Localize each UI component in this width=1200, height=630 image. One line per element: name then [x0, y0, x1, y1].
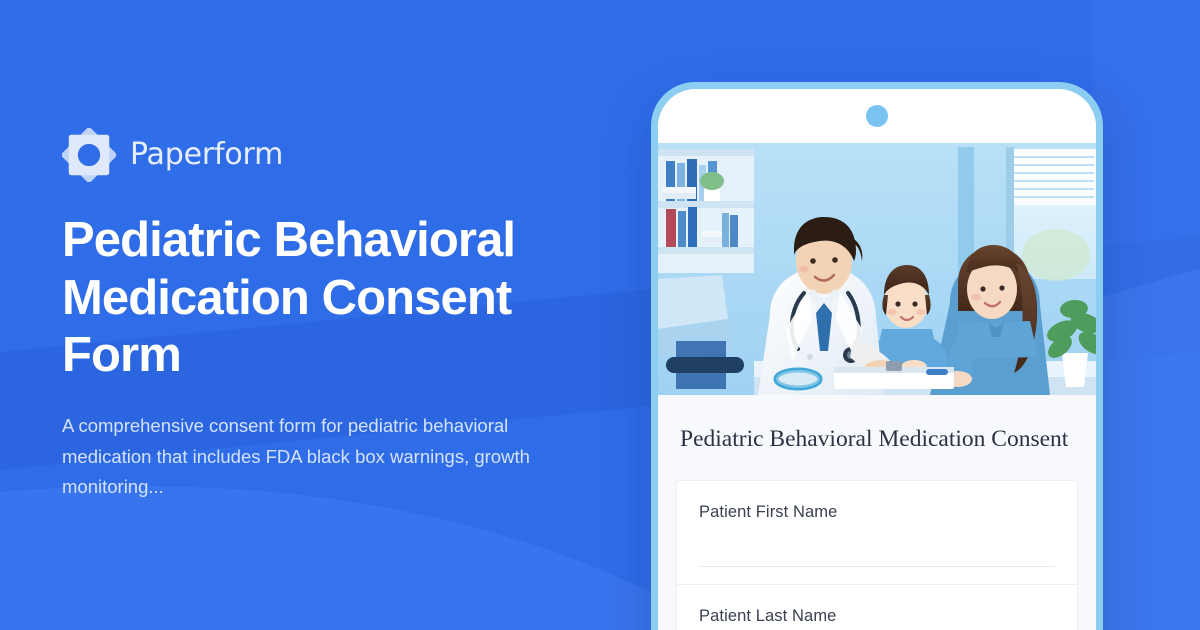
form-field-list: Patient First Name Patient Last Name: [658, 480, 1096, 630]
phone-screen: Pediatric Behavioral Medication Consent …: [658, 89, 1096, 630]
field-patient-last-name[interactable]: Patient Last Name: [676, 584, 1078, 630]
page-description: A comprehensive consent form for pediatr…: [62, 411, 577, 502]
phone-status-bar: [658, 89, 1096, 143]
form-hero-illustration: [658, 143, 1096, 395]
phone-mockup: Pediatric Behavioral Medication Consent …: [651, 82, 1103, 630]
field-input-underline[interactable]: [699, 566, 1055, 567]
background-band-right-lower: [1092, 268, 1200, 630]
brand-name: Paperform: [130, 140, 283, 170]
form-title: Pediatric Behavioral Medication Consent: [658, 395, 1096, 480]
field-patient-first-name[interactable]: Patient First Name: [676, 480, 1078, 584]
form-body: Pediatric Behavioral Medication Consent …: [658, 395, 1096, 630]
paperform-star-logo-icon: [62, 128, 116, 182]
field-label: Patient Last Name: [699, 607, 1055, 626]
brand-lockup: Paperform: [62, 128, 622, 182]
field-label: Patient First Name: [699, 503, 1055, 522]
camera-dot-icon: [866, 105, 888, 127]
hero-content: Paperform Pediatric Behavioral Medicatio…: [62, 0, 622, 630]
page-title: Pediatric Behavioral Medication Consent …: [62, 212, 582, 385]
